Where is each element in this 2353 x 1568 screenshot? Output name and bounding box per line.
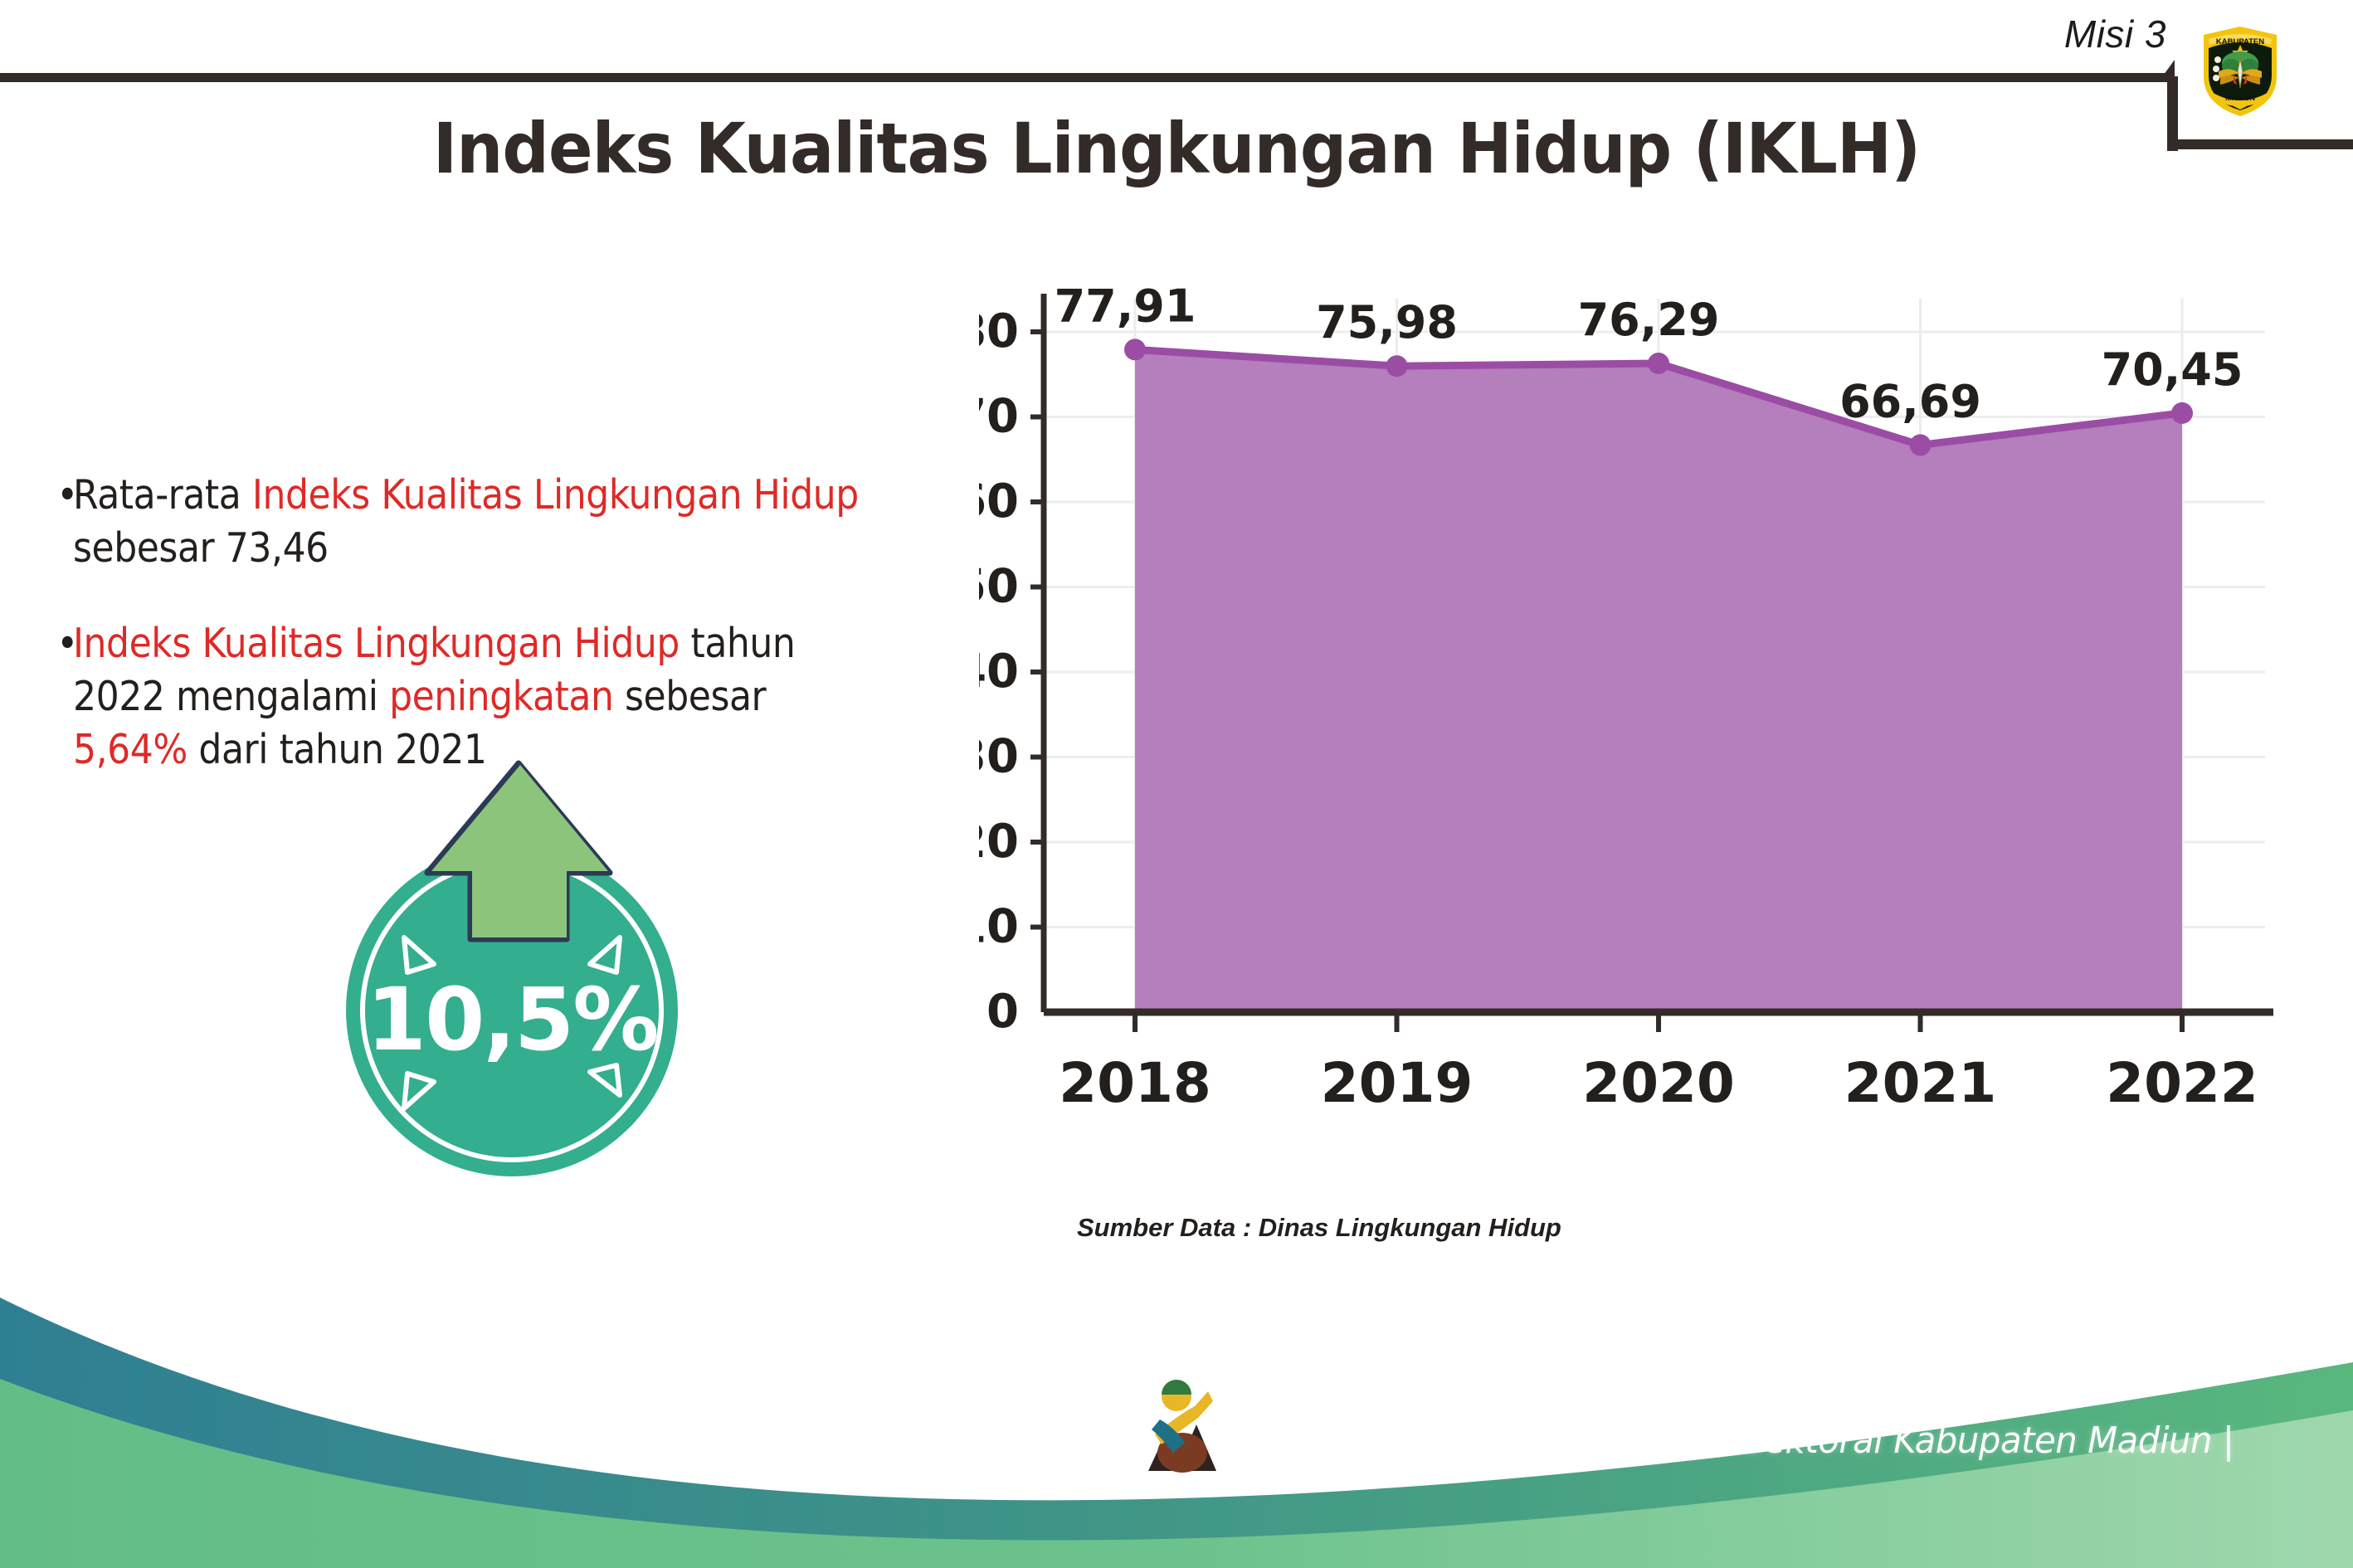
bullet-marker: •: [56, 469, 78, 522]
bullet-seg: Rata-rata: [73, 471, 252, 519]
area-fill: [1135, 349, 2182, 1012]
source-note: Sumber Data : Dinas Lingkungan Hidup: [1077, 1213, 1561, 1243]
bullet-seg-highlight: 5,64%: [73, 726, 188, 773]
y-tick-label: 10: [979, 900, 1019, 954]
x-tick-label: 2018: [1059, 1051, 1211, 1115]
badge-value: 10,5%: [346, 969, 678, 1070]
x-tick-label: 2019: [1321, 1051, 1474, 1115]
y-tick-label: 30: [979, 730, 1019, 784]
data-point-marker: [2171, 402, 2193, 424]
y-tick-label: 50: [979, 560, 1019, 614]
bullet-seg: sebesar 73,46: [73, 524, 329, 572]
misi-label: Misi 3: [1735, 12, 2166, 56]
data-label: 66,69: [1839, 375, 1981, 427]
data-point-marker: [1124, 338, 1146, 360]
emblem-bottom-text: MADIUN: [2225, 94, 2255, 102]
x-tick-label: 2020: [1582, 1051, 1735, 1115]
bullet-seg-highlight: Indeks Kualitas Lingkungan Hidup: [252, 471, 859, 519]
bullet-seg-highlight: Indeks Kualitas Lingkungan Hidup: [73, 620, 680, 667]
infographic-slide: Misi 3 KABUPATEN MADIUN I: [0, 0, 2353, 1568]
bullet-item-1: • Rata-rata Indeks Kualitas Lingkungan H…: [73, 469, 865, 574]
data-label: 76,29: [1578, 294, 1720, 346]
statistics-figure-icon: [1137, 1373, 1228, 1481]
bullet-seg-highlight: peningkatan: [389, 673, 613, 720]
data-label: 77,91: [1055, 282, 1196, 332]
header-frame-notch: [2161, 60, 2175, 78]
y-tick-label: 60: [979, 475, 1019, 528]
data-point-marker: [1386, 355, 1408, 377]
data-label: 70,45: [2102, 343, 2243, 396]
y-tick-label: 40: [979, 645, 1019, 699]
bullet-seg: sebesar: [613, 673, 766, 720]
header-rule: [0, 73, 2167, 82]
x-tick-label: 2022: [2106, 1051, 2258, 1115]
y-tick-label: 80: [979, 304, 1019, 358]
data-point-marker: [1910, 434, 1932, 455]
data-point-marker: [1648, 353, 1669, 374]
iklh-area-chart: 77,9175,9876,2966,6970,45010203040506070…: [979, 282, 2273, 1161]
page-title: Indeks Kualitas Lingkungan Hidup (IKLH): [71, 108, 2282, 189]
y-tick-label: 0: [987, 985, 1019, 1039]
x-tick-label: 2021: [1844, 1051, 1997, 1115]
y-tick-label: 20: [979, 815, 1019, 869]
kabupaten-madiun-emblem-icon: KABUPATEN MADIUN: [2195, 12, 2285, 118]
footer-wave: Media Infografis Data Statistik Sektoral…: [0, 1286, 2353, 1568]
footer-caption: Media Infografis Data Statistik Sektoral…: [1220, 1419, 2234, 1462]
growth-badge: 10,5%: [328, 747, 743, 1186]
y-tick-label: 70: [979, 390, 1019, 444]
data-label: 75,98: [1316, 296, 1458, 348]
bullet-marker: •: [56, 617, 78, 670]
